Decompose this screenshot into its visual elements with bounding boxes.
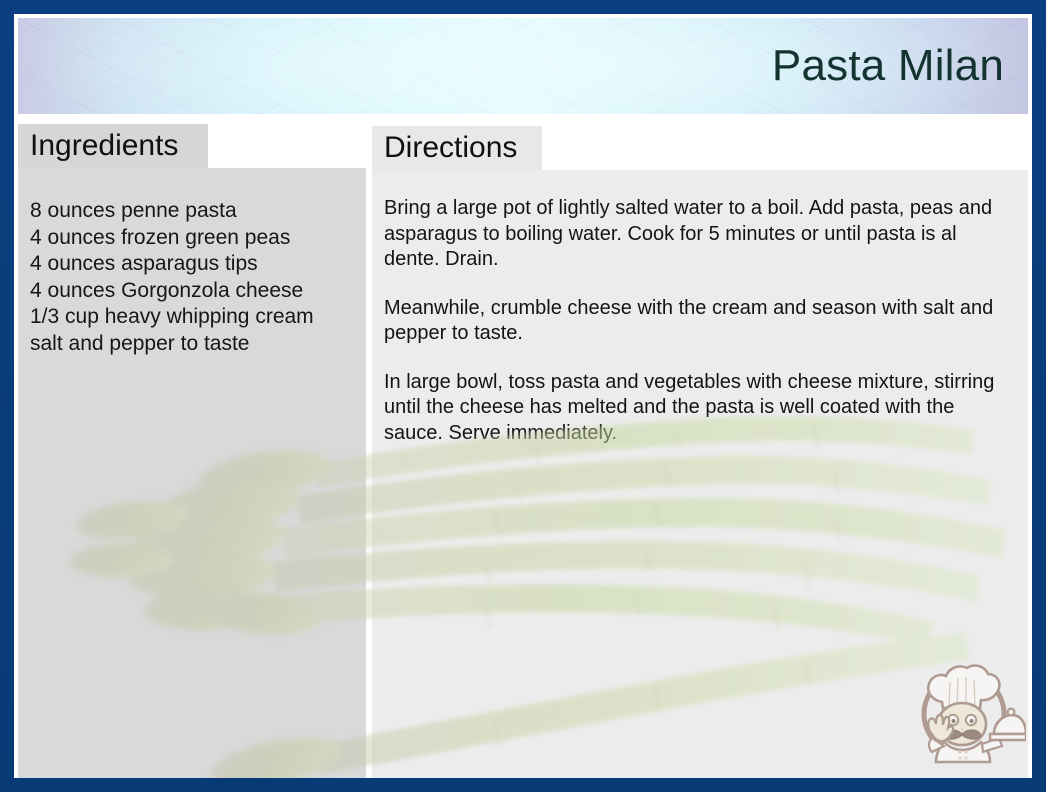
title-banner: Pasta Milan bbox=[18, 18, 1028, 114]
ingredients-section: Ingredients 8 ounces penne pasta 4 ounce… bbox=[18, 124, 366, 778]
list-item: 4 ounces frozen green peas bbox=[30, 225, 354, 252]
direction-paragraph: Meanwhile, crumble cheese with the cream… bbox=[384, 296, 1014, 347]
list-item: salt and pepper to taste bbox=[30, 331, 354, 358]
direction-paragraph: In large bowl, toss pasta and vegetables… bbox=[384, 370, 1014, 447]
list-item: 1/3 cup heavy whipping cream bbox=[30, 304, 354, 331]
directions-header-tab: Directions bbox=[372, 126, 542, 170]
list-item: 4 ounces Gorgonzola cheese bbox=[30, 278, 354, 305]
direction-paragraph: Bring a large pot of lightly salted wate… bbox=[384, 196, 1014, 273]
recipe-card: Pasta Milan Ingredients 8 ounces penne p… bbox=[0, 0, 1046, 792]
card-page: Pasta Milan Ingredients 8 ounces penne p… bbox=[14, 14, 1032, 778]
ingredients-heading: Ingredients bbox=[30, 131, 178, 161]
list-item: 8 ounces penne pasta bbox=[30, 198, 354, 225]
chef-logo bbox=[902, 642, 1026, 766]
list-item: 4 ounces asparagus tips bbox=[30, 251, 354, 278]
ingredients-header-tab: Ingredients bbox=[18, 124, 208, 168]
page-title: Pasta Milan bbox=[772, 41, 1004, 91]
ingredients-panel: 8 ounces penne pasta 4 ounces frozen gre… bbox=[18, 168, 366, 778]
directions-heading: Directions bbox=[384, 133, 517, 163]
